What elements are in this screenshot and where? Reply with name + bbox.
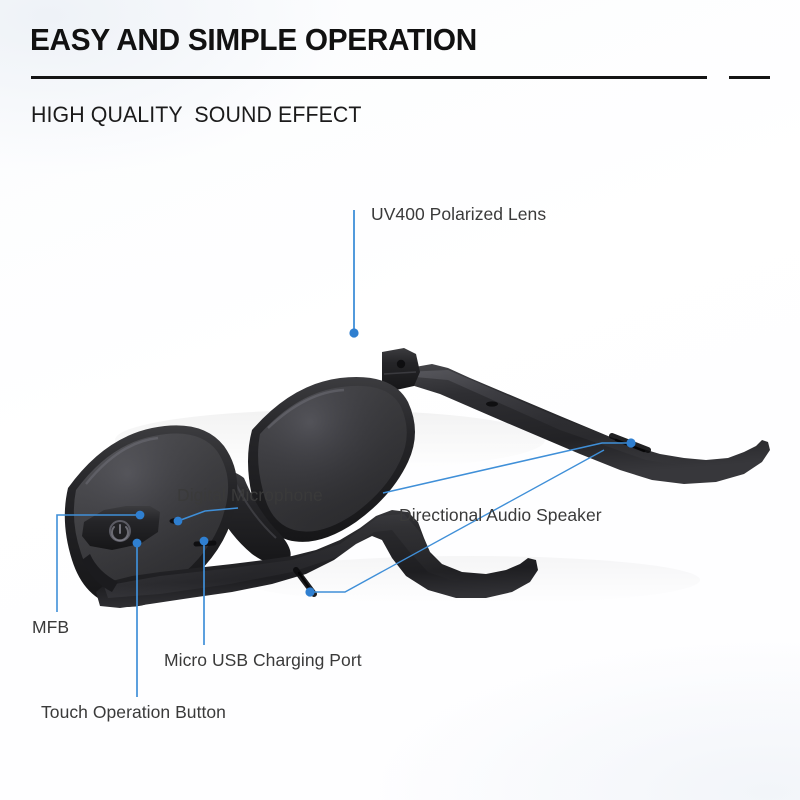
header-block: EASY AND SIMPLE OPERATION HIGH QUALITY S… [0, 0, 800, 140]
microphone-hole [170, 518, 183, 524]
infographic-page: EASY AND SIMPLE OPERATION HIGH QUALITY S… [0, 0, 800, 800]
callout-label-directional-audio-speaker: Directional Audio Speaker [399, 505, 602, 526]
hinge-screw [397, 360, 405, 368]
microphone-hole-upper [486, 401, 498, 406]
title-rule [31, 76, 707, 79]
callout-label-touch-operation-button: Touch Operation Button [41, 702, 226, 723]
title-rule-dash [729, 76, 770, 79]
callout-label-digital-microphone: Digital Microphone [177, 485, 323, 506]
micro-usb-port [196, 543, 214, 544]
callout-label-uv400-polarized-lens: UV400 Polarized Lens [371, 204, 546, 225]
callout-label-micro-usb-charging-port: Micro USB Charging Port [164, 650, 362, 671]
callout-label-mfb: MFB [32, 617, 69, 638]
page-subtitle: HIGH QUALITY SOUND EFFECT [31, 102, 362, 128]
page-title: EASY AND SIMPLE OPERATION [30, 22, 477, 58]
